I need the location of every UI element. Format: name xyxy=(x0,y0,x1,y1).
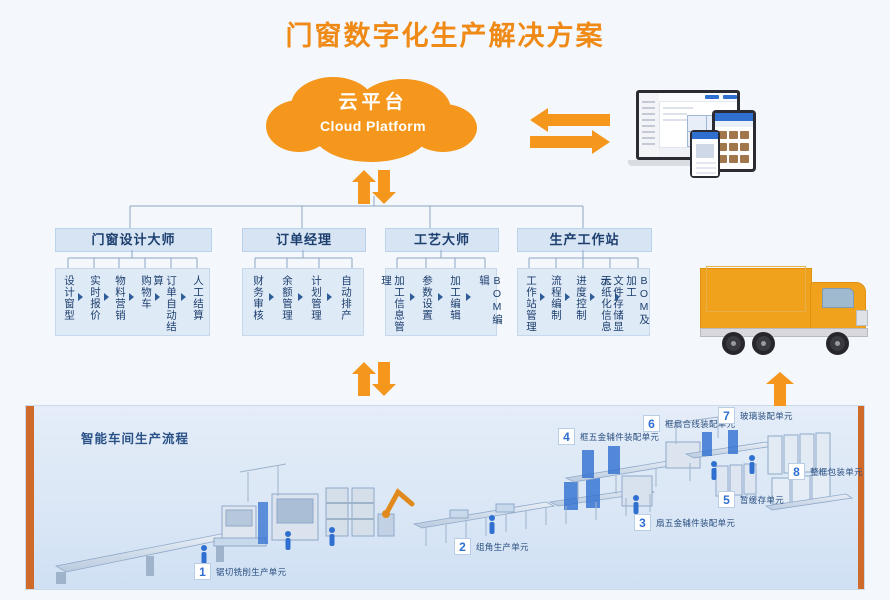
module-3-item-3[interactable]: BOM编辑 xyxy=(477,275,503,335)
module-1-item-0[interactable]: 设计窗型 xyxy=(62,275,75,321)
module-group-4: 生产工作站 工作站管理 流程编制 进度控制 无纸化信息 BOM及加工 文件存储显… xyxy=(517,228,650,252)
workshop-unit-5[interactable]: 5 暂缓存单元 xyxy=(718,491,784,508)
workshop-unit-3-label: 扇五金辅件装配单元 xyxy=(656,517,735,529)
workshop-panel: 智能车间生产流程 xyxy=(25,405,865,590)
workshop-unit-4-number: 4 xyxy=(558,428,575,445)
module-2-items: 财务审核 余额管理 计划管理 自动排产 xyxy=(242,268,364,336)
module-title-2[interactable]: 订单经理 xyxy=(242,228,366,252)
workshop-unit-5-number: 5 xyxy=(718,491,735,508)
module-3-item-2[interactable]: 加工编辑 xyxy=(448,275,461,321)
module-1-item-1[interactable]: 实时报价 xyxy=(88,275,101,321)
module-title-4[interactable]: 生产工作站 xyxy=(517,228,652,252)
cloud-platform-text: 云平台 Cloud Platform xyxy=(263,90,483,136)
workshop-unit-8-number: 8 xyxy=(788,463,805,480)
workshop-unit-3-number: 3 xyxy=(634,514,651,531)
workshop-unit-7-label: 玻璃装配单元 xyxy=(740,410,793,422)
workshop-unit-2[interactable]: 2 组角生产单元 xyxy=(454,538,529,555)
laptop-sidebar xyxy=(639,93,660,157)
phone-icon xyxy=(690,130,720,178)
module-2-branches xyxy=(242,250,364,268)
delivery-truck-icon xyxy=(700,258,880,368)
workshop-unit-2-label: 组角生产单元 xyxy=(476,541,529,553)
laptop-toolbar xyxy=(659,93,737,102)
module-3-items: 加工信息管理 参数设置 加工编辑 BOM编辑 xyxy=(385,268,497,336)
modules-to-workshop-arrows xyxy=(352,362,396,396)
module-4-branches xyxy=(517,250,650,268)
module-2-item-2[interactable]: 计划管理 xyxy=(309,275,322,321)
module-3-branches xyxy=(385,250,497,268)
module-group-3: 工艺大师 加工信息管理 参数设置 加工编辑 BOM编辑 xyxy=(385,228,497,252)
workshop-unit-7-number: 7 xyxy=(718,407,735,424)
module-3-item-1[interactable]: 参数设置 xyxy=(420,275,433,321)
module-4-item-2[interactable]: 进度控制 xyxy=(574,275,587,321)
workshop-unit-1-number: 1 xyxy=(194,563,211,580)
module-3-item-0[interactable]: 加工信息管理 xyxy=(392,275,405,335)
workshop-unit-6-number: 6 xyxy=(643,415,660,432)
page-title: 门窗数字化生产解决方案 xyxy=(0,14,890,53)
workshop-unit-1-label: 锯切铣削生产单元 xyxy=(216,566,286,578)
module-4-items: 工作站管理 流程编制 进度控制 无纸化信息 BOM及加工 文件存储显示 xyxy=(517,268,650,336)
workshop-to-truck-arrow xyxy=(766,372,794,406)
cloud-platform-name-cn: 云平台 xyxy=(263,90,483,116)
module-2-item-3[interactable]: 自动排产 xyxy=(339,275,352,321)
module-1-item-5[interactable]: 人工结算 xyxy=(191,275,204,321)
module-4-item-4[interactable]: BOM及加工 文件存储显示 xyxy=(624,275,650,333)
module-1-branches xyxy=(55,250,210,268)
cloud-platform-name-en: Cloud Platform xyxy=(263,116,483,136)
workshop-unit-2-number: 2 xyxy=(454,538,471,555)
module-1-items: 设计窗型 实时报价 物料营销 购物车 订单自动结算 人工结算 xyxy=(55,268,210,336)
solution-diagram: 门窗数字化生产解决方案 云平台 Cloud Platform xyxy=(0,0,890,600)
module-1-item-2[interactable]: 物料营销 xyxy=(113,275,126,321)
workshop-unit-1[interactable]: 1 锯切铣削生产单元 xyxy=(194,563,286,580)
module-4-item-1[interactable]: 流程编制 xyxy=(549,275,562,321)
module-title-3[interactable]: 工艺大师 xyxy=(385,228,499,252)
device-mockup xyxy=(628,88,768,176)
cloud-device-sync-arrows xyxy=(530,108,610,154)
cloud-platform-node: 云平台 Cloud Platform xyxy=(263,72,483,164)
workshop-unit-3[interactable]: 3 扇五金辅件装配单元 xyxy=(634,514,735,531)
module-1-item-4[interactable]: 订单自动结算 xyxy=(164,275,177,335)
workshop-unit-4-label: 框五金辅件装配单元 xyxy=(580,431,659,443)
workshop-unit-8-label: 整框包装单元 xyxy=(810,466,863,478)
workshop-unit-5-label: 暂缓存单元 xyxy=(740,494,784,506)
module-title-1[interactable]: 门窗设计大师 xyxy=(55,228,212,252)
workshop-unit-8[interactable]: 8 整框包装单元 xyxy=(788,463,863,480)
module-4-item-0[interactable]: 工作站管理 xyxy=(524,275,537,333)
workshop-unit-7[interactable]: 7 玻璃装配单元 xyxy=(718,407,793,424)
module-2-item-0[interactable]: 财务审核 xyxy=(251,275,264,321)
module-group-1: 门窗设计大师 设计窗型 实时报价 物料营销 购物车 订单自动结算 人工结算 xyxy=(55,228,210,252)
module-2-item-1[interactable]: 余额管理 xyxy=(280,275,293,321)
module-group-2: 订单经理 财务审核 余额管理 计划管理 自动排产 xyxy=(242,228,364,252)
